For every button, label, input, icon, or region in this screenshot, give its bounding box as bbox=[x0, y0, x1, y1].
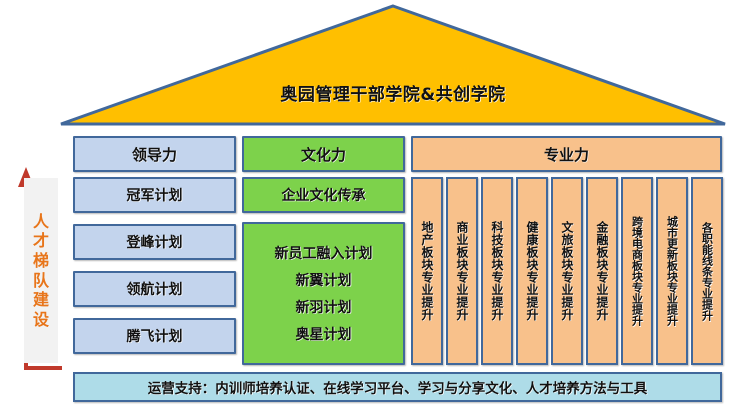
professional-column-7[interactable]: 城市更新板块专业提升 bbox=[656, 177, 688, 365]
talent-pipeline-label: 人 才 梯 队 建 设 bbox=[24, 178, 58, 363]
professional-column-6-label: 跨境电商板块专业提升 bbox=[632, 216, 643, 326]
pillar-header-leadership[interactable]: 领导力 bbox=[73, 136, 236, 172]
roof-shape: 奥园管理干部学院&共创学院 bbox=[57, 2, 729, 128]
leadership-item-0[interactable]: 冠军计划 bbox=[73, 177, 236, 213]
operations-support-bar[interactable]: 运营支持：内训师培养认证、在线学习平台、学习与分享文化、人才培养方法与工具 bbox=[73, 372, 722, 402]
professional-column-0[interactable]: 地产板块专业提升 bbox=[411, 177, 443, 365]
professional-column-5[interactable]: 金融板块专业提升 bbox=[586, 177, 618, 365]
pillar-header-professional[interactable]: 专业力 bbox=[411, 136, 722, 172]
leadership-item-3[interactable]: 腾飞计划 bbox=[73, 318, 236, 354]
culture-program-0: 新员工融入计划 bbox=[275, 243, 373, 263]
professional-column-3-label: 健康板块专业提升 bbox=[526, 221, 538, 321]
culture-program-1: 新翼计划 bbox=[296, 270, 352, 290]
culture-program-3: 奥星计划 bbox=[296, 324, 352, 344]
pillar-header-culture[interactable]: 文化力 bbox=[242, 136, 405, 172]
roof-triangle-icon bbox=[57, 2, 729, 128]
sidebar-char-5: 设 bbox=[33, 310, 49, 330]
professional-column-6[interactable]: 跨境电商板块专业提升 bbox=[621, 177, 653, 365]
professional-column-4[interactable]: 文旅板块专业提升 bbox=[551, 177, 583, 365]
professional-column-1-label: 商业板块专业提升 bbox=[456, 221, 468, 321]
professional-column-7-label: 城市更新板块专业提升 bbox=[667, 216, 678, 326]
sidebar-char-3: 队 bbox=[33, 271, 49, 291]
professional-column-4-label: 文旅板块专业提升 bbox=[561, 221, 573, 321]
professional-column-1[interactable]: 商业板块专业提升 bbox=[446, 177, 478, 365]
sidebar-char-4: 建 bbox=[33, 290, 49, 310]
professional-column-2[interactable]: 科技板块专业提升 bbox=[481, 177, 513, 365]
sidebar-char-1: 才 bbox=[33, 231, 49, 251]
roof-title: 奥园管理干部学院&共创学院 bbox=[57, 80, 729, 105]
leadership-item-2[interactable]: 领航计划 bbox=[73, 271, 236, 307]
culture-program-2: 新羽计划 bbox=[296, 297, 352, 317]
professional-column-8[interactable]: 各职能线条专业提升 bbox=[691, 177, 723, 365]
professional-column-0-label: 地产板块专业提升 bbox=[421, 221, 433, 321]
culture-program-stack[interactable]: 新员工融入计划 新翼计划 新羽计划 奥星计划 bbox=[242, 222, 405, 365]
professional-column-2-label: 科技板块专业提升 bbox=[491, 221, 503, 321]
talent-pyramid-diagram: 奥园管理干部学院&共创学院 人 才 梯 队 建 设 领导力 冠军计划 登峰计划 … bbox=[0, 0, 729, 410]
sidebar-char-0: 人 bbox=[33, 212, 49, 232]
professional-column-3[interactable]: 健康板块专业提升 bbox=[516, 177, 548, 365]
sidebar-char-2: 梯 bbox=[33, 251, 49, 271]
culture-item-0[interactable]: 企业文化传承 bbox=[242, 177, 405, 213]
professional-column-8-label: 各职能线条专业提升 bbox=[702, 222, 713, 321]
leadership-item-1[interactable]: 登峰计划 bbox=[73, 224, 236, 260]
professional-column-5-label: 金融板块专业提升 bbox=[596, 221, 608, 321]
